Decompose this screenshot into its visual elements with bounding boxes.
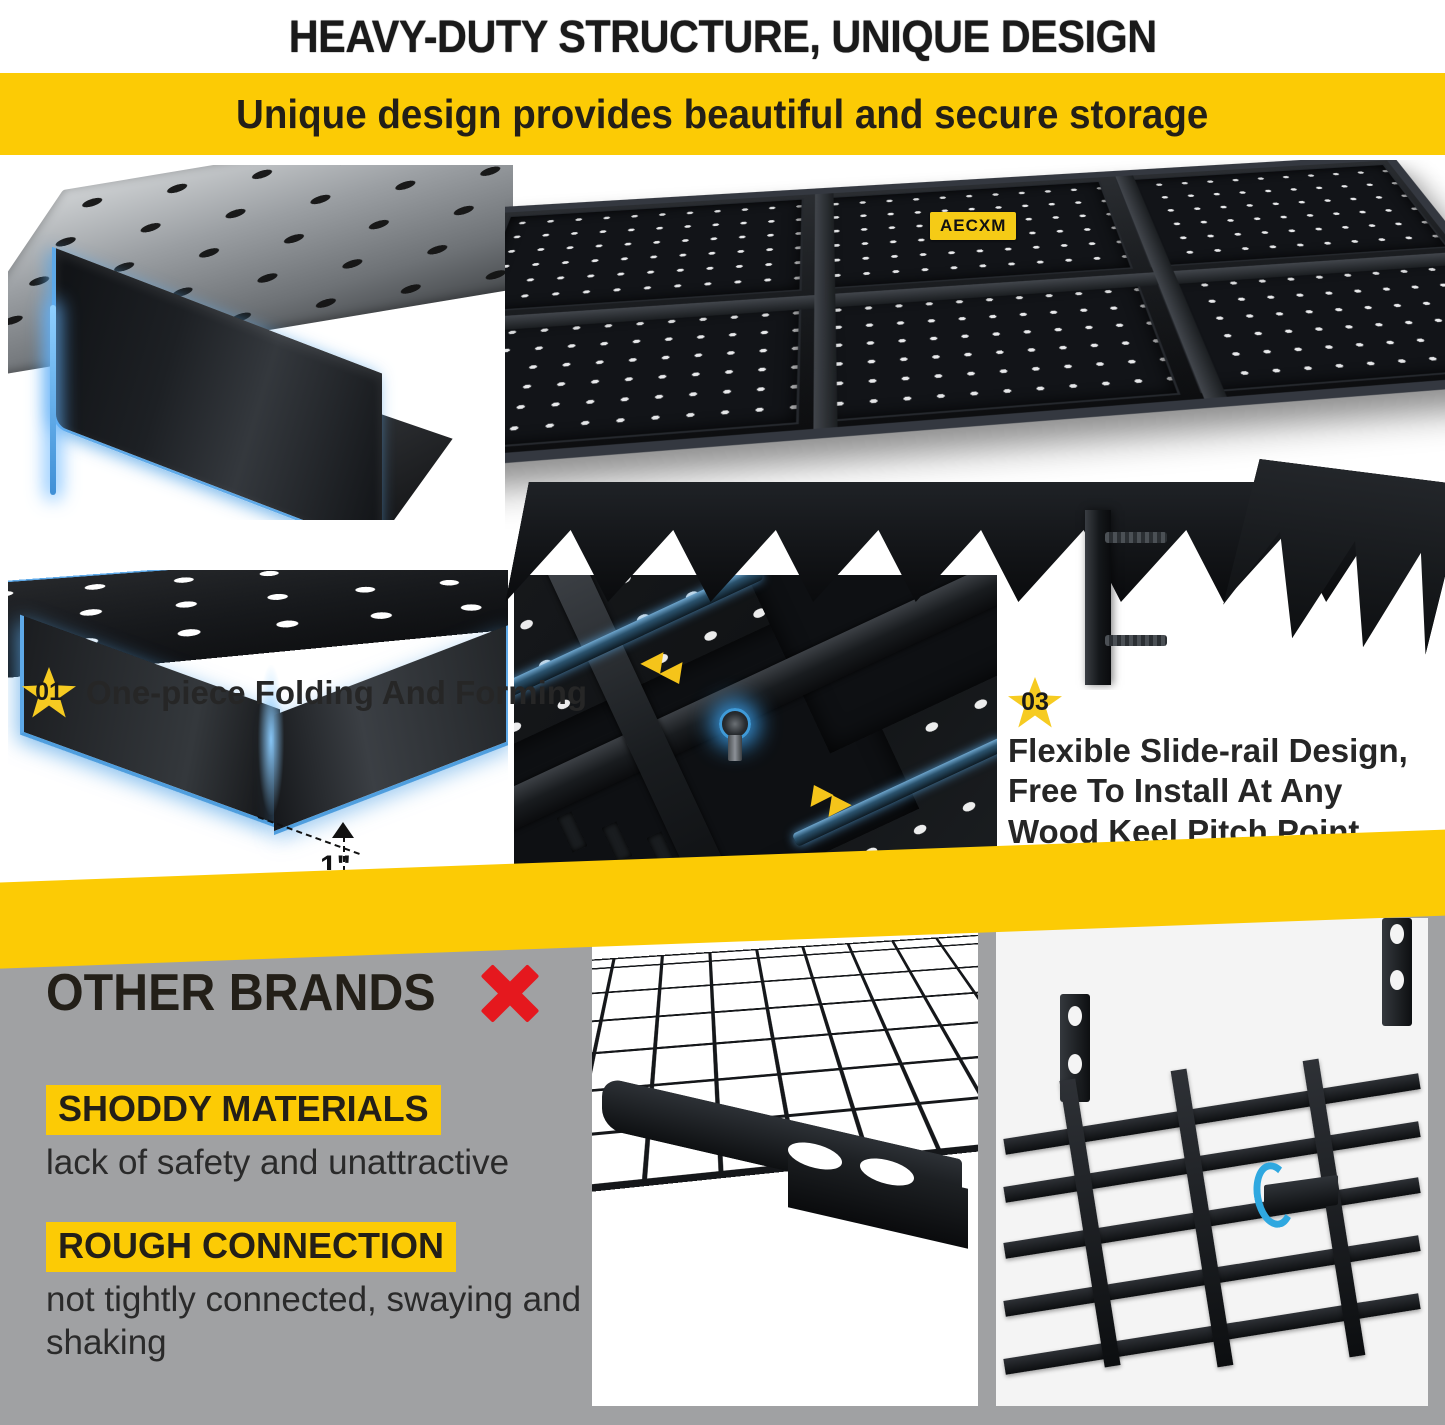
star-badge-icon: 03 (1008, 677, 1062, 729)
other-brands-heading: OTHER BRANDS (46, 962, 541, 1024)
photo-thick-sturdy-frame: 1" (8, 570, 508, 870)
feature-label-01: 01 One-piece Folding And Forming (22, 667, 587, 719)
feature-text: One-piece Folding And Forming (86, 674, 587, 712)
perforated-panel (505, 198, 803, 312)
feature-label-03: 03 Flexible Slide-rail Design, Free To I… (1008, 677, 1433, 852)
wall-bracket (1382, 918, 1412, 1026)
photo-overhead-rack: AECXM (505, 160, 1445, 690)
photo-competitor-tube-frame (996, 918, 1428, 1406)
mounting-screw (1105, 635, 1167, 646)
dimension-arrow-up-icon (332, 822, 354, 838)
blue-circle-annotation-icon (1249, 1159, 1300, 1231)
bracket-hole (1390, 924, 1404, 944)
flaw-description: not tightly connected, swaying and shaki… (46, 1279, 586, 1364)
photo-competitor-wire-shelf (592, 918, 978, 1406)
flaw-title: ROUGH CONNECTION (46, 1222, 456, 1272)
other-brands-section: OTHER BRANDS SHODDY MATERIALS lack of sa… (0, 900, 1445, 1425)
header-title-bar: HEAVY-DUTY STRUCTURE, UNIQUE DESIGN (0, 0, 1445, 73)
flaw-item: ROUGH CONNECTION not tightly connected, … (46, 1222, 586, 1364)
rack-deck (505, 160, 1445, 473)
other-brands-title: OTHER BRANDS (46, 963, 436, 1023)
page-subtitle: Unique design provides beautiful and sec… (236, 91, 1208, 138)
bracket-hole (1068, 1054, 1082, 1074)
star-badge-icon: 01 (22, 667, 76, 719)
dimension-value: 1" (320, 850, 351, 870)
page-title: HEAVY-DUTY STRUCTURE, UNIQUE DESIGN (289, 11, 1157, 63)
blue-highlight-glow (50, 305, 56, 495)
bracket-hole (1390, 970, 1404, 990)
features-section: 1" AECXM (0, 155, 1445, 900)
long-rail (813, 193, 837, 429)
thickness-dimension-annotation: 1" (258, 802, 438, 870)
flaw-title: SHODDY MATERIALS (46, 1085, 441, 1135)
flaw-description: lack of safety and unattractive (46, 1142, 509, 1185)
feature-number: 01 (35, 678, 63, 707)
feature-number: 03 (1021, 688, 1049, 717)
header-subtitle-band: Unique design provides beautiful and sec… (0, 73, 1445, 155)
bracket-hole (1068, 1006, 1082, 1026)
brand-badge: AECXM (930, 212, 1016, 240)
red-x-icon (479, 962, 541, 1024)
bolt-stem (728, 735, 742, 761)
photo-one-piece-folding (8, 165, 513, 520)
mounting-screw (1105, 532, 1167, 543)
flaw-item: SHODDY MATERIALS lack of safety and unat… (46, 1085, 509, 1185)
